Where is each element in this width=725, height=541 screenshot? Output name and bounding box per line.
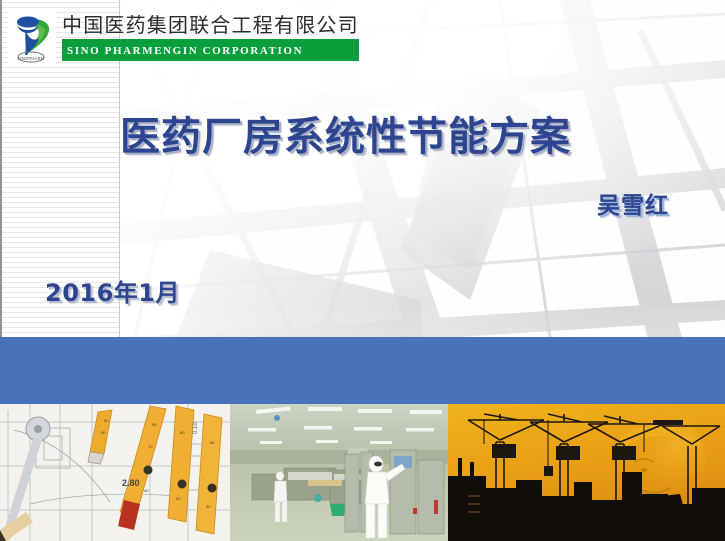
company-name-en-band: SINO PHARMENGIN CORPORATION [62, 39, 359, 61]
svg-text:50: 50 [104, 418, 109, 423]
svg-text:90: 90 [152, 422, 157, 427]
svg-text:70: 70 [148, 444, 153, 449]
svg-text:30: 30 [206, 504, 211, 509]
svg-text:80: 80 [210, 440, 215, 445]
svg-text:60: 60 [180, 430, 185, 435]
svg-text:40: 40 [144, 488, 149, 493]
bottom-photo-strip: 5040 9070 40 6020 8030 2.80 0.10 [0, 404, 725, 541]
svg-text:SINOPHARM: SINOPHARM [17, 56, 44, 61]
slide-title: 医药厂房系统性节能方案 [120, 104, 571, 162]
sinopharm-logo-mark: SINOPHARM [8, 8, 56, 66]
logo-text-group: 中国医药集团联合工程有限公司 SINO PHARMENGIN CORPORATI… [62, 13, 359, 61]
company-logo: SINOPHARM 中国医药集团联合工程有限公司 SINO PHARMENGIN… [8, 6, 353, 68]
photo-blueprint-drafting-tools: 5040 9070 40 6020 8030 2.80 0.10 [0, 404, 230, 541]
author-name: 吴雪红 [597, 186, 669, 220]
svg-text:20: 20 [176, 496, 181, 501]
company-name-en: SINO PHARMENGIN CORPORATION [67, 45, 303, 57]
company-name-cn: 中国医药集团联合工程有限公司 [62, 13, 359, 37]
blueprint-dimension-label: 2.80 [122, 478, 140, 488]
svg-text:0.10: 0.10 [193, 422, 199, 434]
svg-text:40: 40 [101, 430, 106, 435]
photo-pharmaceutical-cleanroom [230, 404, 448, 541]
title-slide: SINOPHARM 中国医药集团联合工程有限公司 SINO PHARMENGIN… [0, 0, 725, 541]
blue-divider-band [0, 337, 725, 404]
photo-construction-site-cranes [448, 404, 725, 541]
slide-date: 2016年1月 [45, 273, 180, 308]
